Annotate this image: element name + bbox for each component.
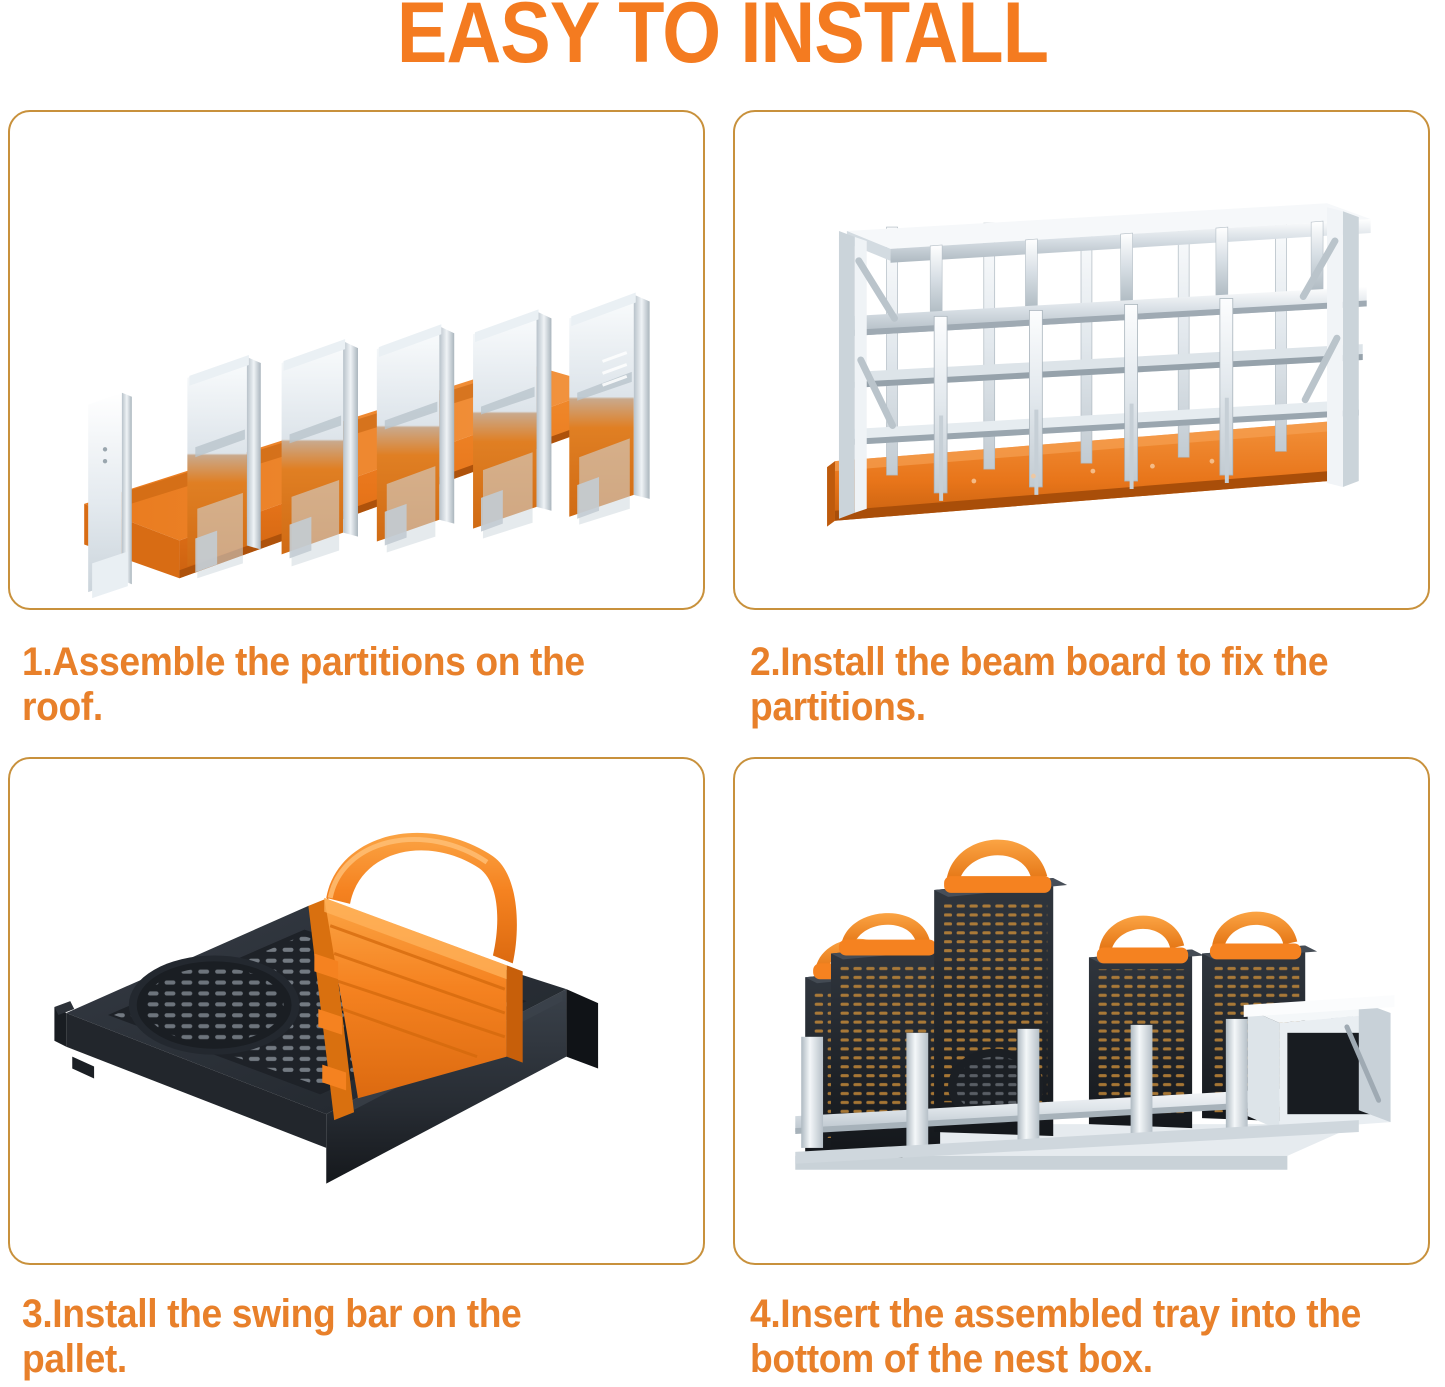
page-title: EASY TO INSTALL (87, 0, 1359, 76)
step-3-caption: 3.Install the swing bar on the pallet. (22, 1292, 636, 1382)
step-3-image-panel (8, 757, 705, 1265)
step-2-caption: 2.Install the beam board to fix the part… (750, 640, 1373, 730)
step-3-illustration (10, 759, 703, 1263)
step-1-illustration (10, 112, 703, 608)
step-4-caption: 4.Insert the assembled tray into the bot… (750, 1292, 1392, 1382)
step-1-caption: 1.Assemble the partitions on the roof. (22, 640, 636, 730)
step-1-image-panel (8, 110, 705, 610)
step-4-illustration (735, 759, 1428, 1263)
step-2-image-panel (733, 110, 1430, 610)
step-2-illustration (735, 112, 1428, 608)
step-4-image-panel (733, 757, 1430, 1265)
